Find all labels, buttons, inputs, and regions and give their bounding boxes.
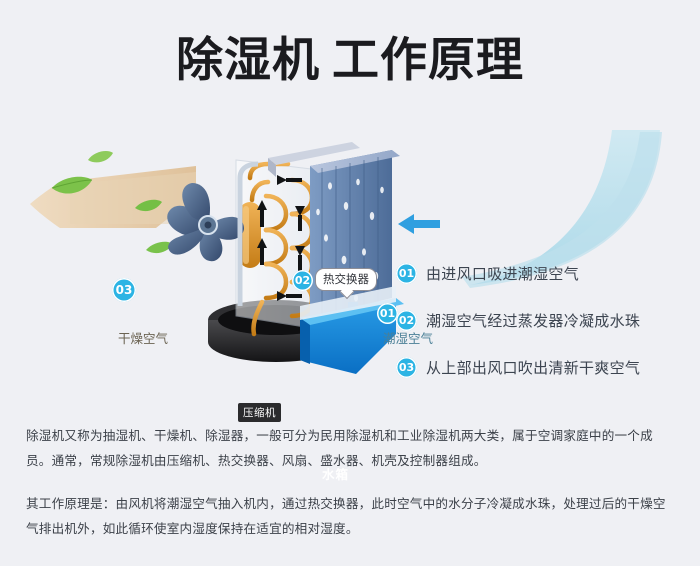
badge-humid-air: 01 bbox=[377, 303, 398, 324]
paragraph-1: 除湿机又称为抽湿机、干燥机、除湿器，一般可分为民用除湿机和工业除湿机两大类，属于… bbox=[26, 423, 678, 473]
infographic-page: 除湿机工作原理 bbox=[0, 0, 700, 566]
body-copy: 除湿机又称为抽湿机、干燥机、除湿器，一般可分为民用除湿机和工业除湿机两大类，属于… bbox=[26, 423, 678, 541]
badge-dry-air: 03 bbox=[112, 278, 136, 302]
list-item: 03 从上部出风口吹出清新干爽空气 bbox=[396, 352, 686, 383]
step-badge-01: 01 bbox=[396, 263, 417, 284]
list-item: 01 由进风口吸进潮湿空气 bbox=[396, 258, 686, 289]
step-text-03: 从上部出风口吹出清新干爽空气 bbox=[426, 357, 640, 378]
step-badge-02: 02 bbox=[396, 310, 417, 331]
paragraph-2: 其工作原理是：由风机将潮湿空气抽入机内，通过热交换器，此时空气中的水分子冷凝成水… bbox=[26, 491, 678, 541]
air-intake-arrow-icon bbox=[398, 214, 440, 234]
step-text-01: 由进风口吸进潮湿空气 bbox=[426, 263, 579, 284]
callout-heat-exchanger: 热交换器 bbox=[315, 268, 377, 291]
page-title: 除湿机工作原理 bbox=[0, 32, 700, 90]
label-dry-air: 干燥空气 bbox=[118, 328, 168, 347]
title-part-2: 工作原理 bbox=[332, 33, 524, 88]
step-badge-03: 03 bbox=[396, 357, 417, 378]
steps-list: 01 由进风口吸进潮湿空气 02 潮湿空气经过蒸发器冷凝成水珠 03 从上部出风… bbox=[396, 258, 686, 399]
list-item: 02 潮湿空气经过蒸发器冷凝成水珠 bbox=[396, 305, 686, 336]
step-text-02: 潮湿空气经过蒸发器冷凝成水珠 bbox=[426, 310, 640, 331]
badge-heat-exchanger: 02 bbox=[292, 270, 313, 291]
label-compressor: 压缩机 bbox=[238, 403, 281, 422]
title-part-1: 除湿机 bbox=[176, 33, 320, 88]
